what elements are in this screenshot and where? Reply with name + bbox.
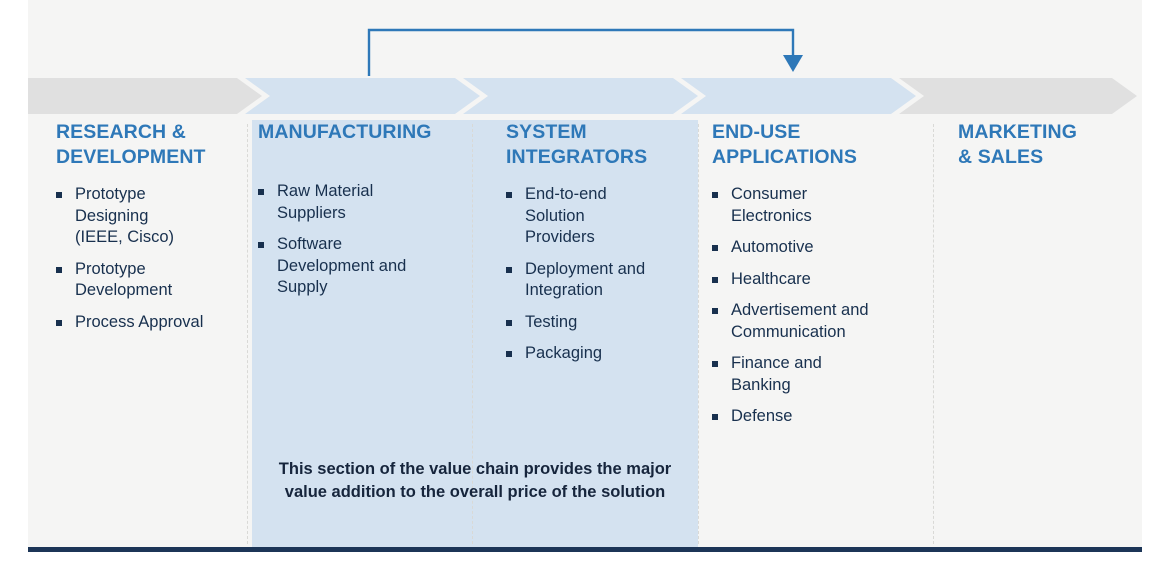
list-item: Finance and Banking	[712, 353, 917, 396]
list-item: Testing	[506, 312, 686, 334]
list-item: Prototype Designing (IEEE, Cisco)	[56, 184, 234, 249]
list-item: Software Development and Supply	[258, 234, 458, 299]
list-item: Deployment and Integration	[506, 259, 686, 302]
column-end-use-applications: END-USE APPLICATIONS Consumer Electronic…	[712, 120, 917, 547]
list-item: Packaging	[506, 343, 686, 365]
column-title-end-use-applications: END-USE APPLICATIONS	[712, 120, 917, 170]
bottom-rule	[28, 547, 1142, 552]
value-chain-diagram: RESEARCH & DEVELOPMENT Prototype Designi…	[0, 0, 1170, 579]
list-item: Process Approval	[56, 312, 234, 334]
list-item: Consumer Electronics	[712, 184, 917, 227]
list-item: Defense	[712, 406, 917, 428]
list-item: Raw Material Suppliers	[258, 181, 458, 224]
column-marketing-sales: MARKETING & SALES	[958, 120, 1128, 547]
bullet-list-end-use-applications: Consumer Electronics Automotive Healthca…	[712, 184, 917, 428]
column-title-system-integrators: SYSTEM INTEGRATORS	[506, 120, 686, 170]
bullet-list-system-integrators: End-to-end Solution Providers Deployment…	[506, 184, 686, 365]
value-addition-caption: This section of the value chain provides…	[266, 458, 684, 504]
column-research-development: RESEARCH & DEVELOPMENT Prototype Designi…	[56, 120, 234, 547]
column-title-marketing-sales: MARKETING & SALES	[958, 120, 1128, 170]
bullet-list-manufacturing: Raw Material Suppliers Software Developm…	[258, 181, 458, 299]
list-item: Prototype Development	[56, 259, 234, 302]
bullet-list-research-development: Prototype Designing (IEEE, Cisco) Protot…	[56, 184, 234, 333]
column-title-research-development: RESEARCH & DEVELOPMENT	[56, 120, 234, 170]
list-item: Automotive	[712, 237, 917, 259]
list-item: Advertisement and Communication	[712, 300, 917, 343]
list-item: End-to-end Solution Providers	[506, 184, 686, 249]
list-item: Healthcare	[712, 269, 917, 291]
column-title-manufacturing: MANUFACTURING	[258, 120, 458, 145]
